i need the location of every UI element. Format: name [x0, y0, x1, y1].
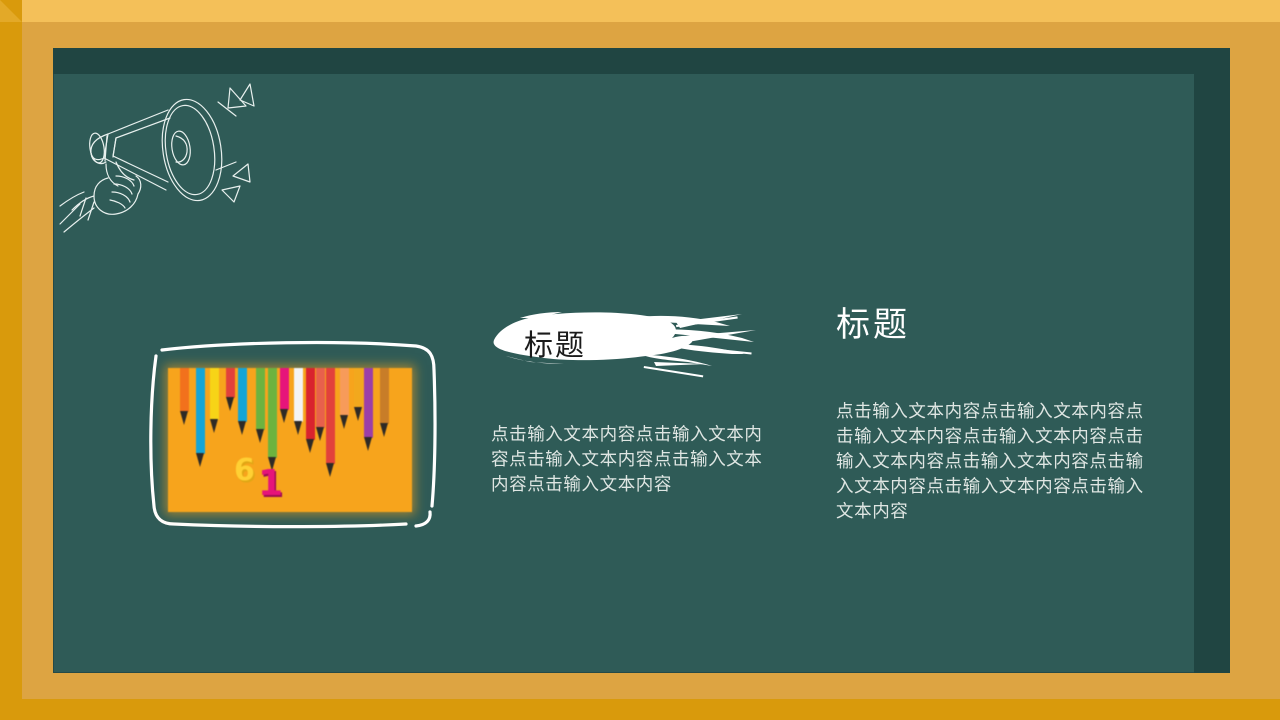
slide-canvas: 6 1	[0, 0, 1280, 720]
photo-number-month: 6	[234, 456, 255, 486]
content-column-middle: 标题 点击输入文本内容点击输入文本内容点击输入文本内容点击输入文本内容点击输入文…	[480, 300, 780, 382]
frame-bottom-bevel	[0, 699, 1280, 720]
middle-body-text: 点击输入文本内容点击输入文本内容点击输入文本内容点击输入文本内容点击输入文本内容	[491, 422, 763, 497]
colored-pencils-photo: 6 1	[168, 368, 412, 512]
right-body-text: 点击输入文本内容点击输入文本内容点击输入文本内容点击输入文本内容点击输入文本内容…	[836, 399, 1161, 524]
photo-number-day: 1	[258, 466, 283, 502]
chalkboard-right-shadow	[1194, 48, 1230, 673]
photo-block: 6 1	[140, 330, 450, 545]
megaphone-icon	[50, 58, 280, 248]
frame-top-bevel	[0, 0, 1280, 22]
frame-left-corner	[0, 0, 22, 22]
right-title: 标题	[836, 305, 1166, 347]
brush-title-block: 标题	[480, 300, 770, 382]
middle-title: 标题	[524, 322, 586, 364]
frame-left-bevel	[0, 0, 22, 720]
content-column-right: 标题 点击输入文本内容点击输入文本内容点击输入文本内容点击输入文本内容点击输入文…	[836, 305, 1166, 524]
